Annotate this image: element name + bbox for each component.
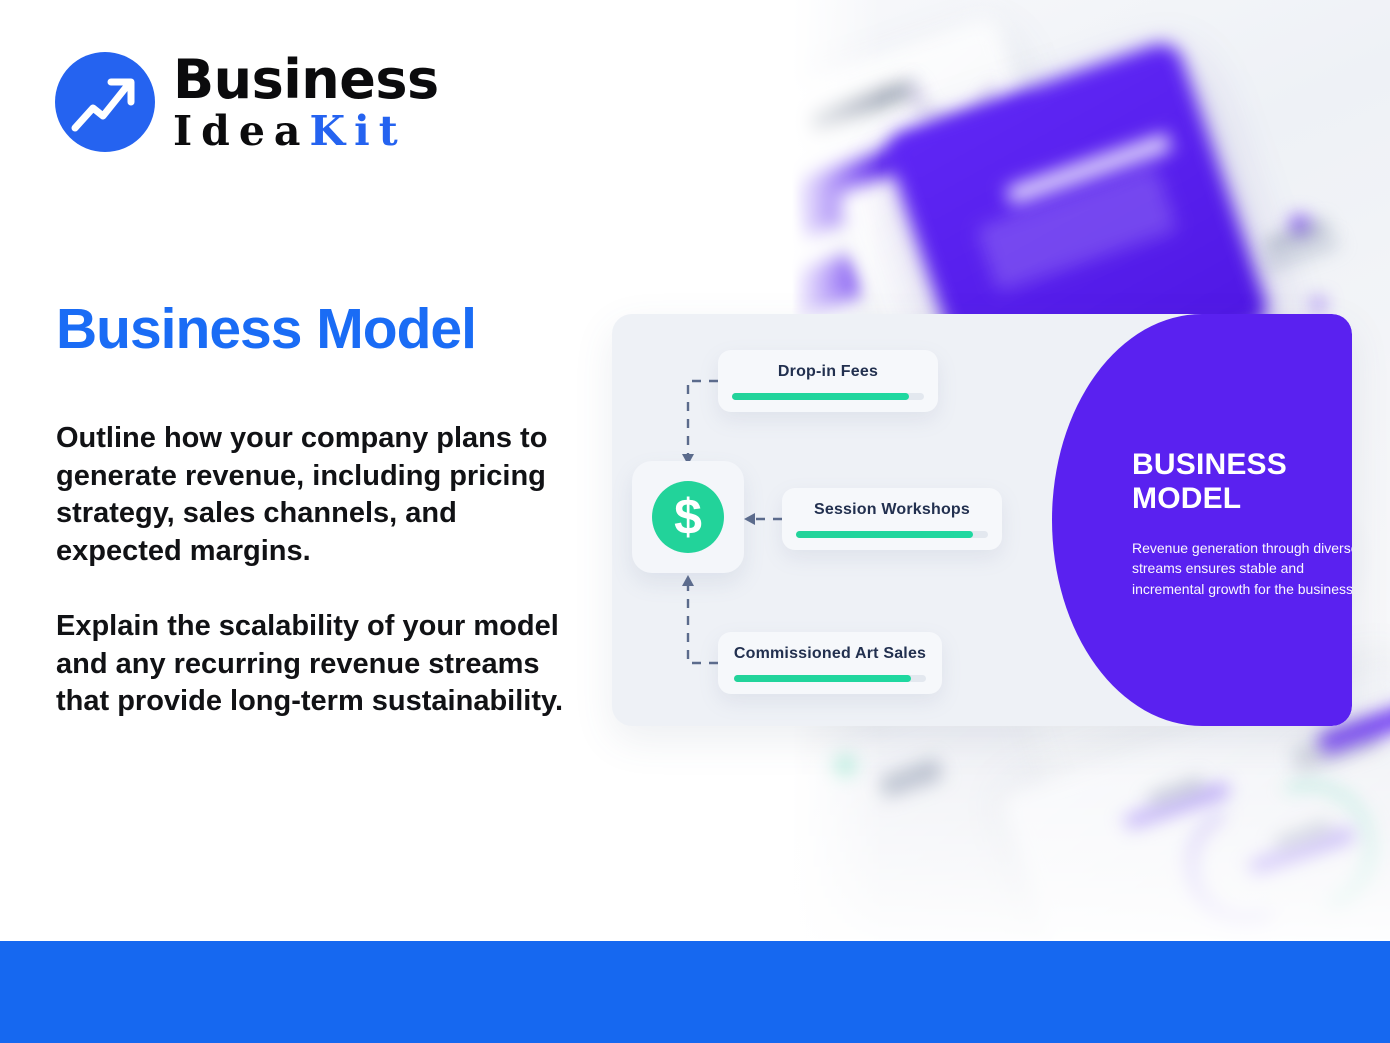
- slide-page: Business IdeaKit Business Model Outline …: [0, 0, 1390, 1043]
- brand-wordmark: Business IdeaKit: [173, 53, 439, 152]
- growth-chart-arrow-icon: [55, 52, 155, 152]
- revenue-stream-label: Drop-in Fees: [778, 363, 878, 381]
- brand-idea-text: Idea: [173, 107, 310, 155]
- brand-logo[interactable]: Business IdeaKit: [55, 52, 439, 152]
- revenue-stream-card[interactable]: Drop-in Fees: [718, 350, 938, 412]
- page-title: Business Model: [56, 296, 476, 362]
- progress-track: [732, 393, 924, 400]
- business-model-card: $ Drop-in Fees Session Workshops Commiss…: [612, 314, 1352, 726]
- progress-fill: [732, 393, 909, 400]
- purple-summary-panel: BUSINESS MODEL Revenue generation throug…: [1052, 314, 1352, 726]
- revenue-center-node[interactable]: $: [632, 461, 744, 573]
- brand-name-line-2: IdeaKit: [173, 111, 439, 152]
- revenue-stream-card[interactable]: Commissioned Art Sales: [718, 632, 942, 694]
- brand-kit-text: Kit: [310, 107, 407, 155]
- progress-fill: [796, 531, 973, 538]
- bg-dot-icon-b: [1312, 298, 1325, 311]
- purple-panel-body: Revenue generation through diverse strea…: [1132, 538, 1352, 599]
- progress-track: [796, 531, 988, 538]
- dollar-symbol: $: [674, 492, 702, 542]
- bg-bottom-fade: [792, 711, 1390, 941]
- dollar-sign-icon: $: [652, 481, 724, 553]
- revenue-stream-label: Session Workshops: [814, 501, 970, 519]
- description-paragraph-1: Outline how your company plans to genera…: [56, 420, 586, 571]
- revenue-stream-card[interactable]: Session Workshops: [782, 488, 1002, 550]
- progress-fill: [734, 675, 911, 682]
- description-paragraph-2: Explain the scalability of your model an…: [56, 608, 586, 721]
- brand-name-line-1: Business: [173, 53, 439, 107]
- revenue-stream-label: Commissioned Art Sales: [734, 645, 926, 663]
- purple-panel-title: BUSINESS MODEL: [1132, 448, 1342, 516]
- progress-track: [734, 675, 926, 682]
- footer-bar: [0, 941, 1390, 1043]
- footer-divider: [0, 939, 1390, 941]
